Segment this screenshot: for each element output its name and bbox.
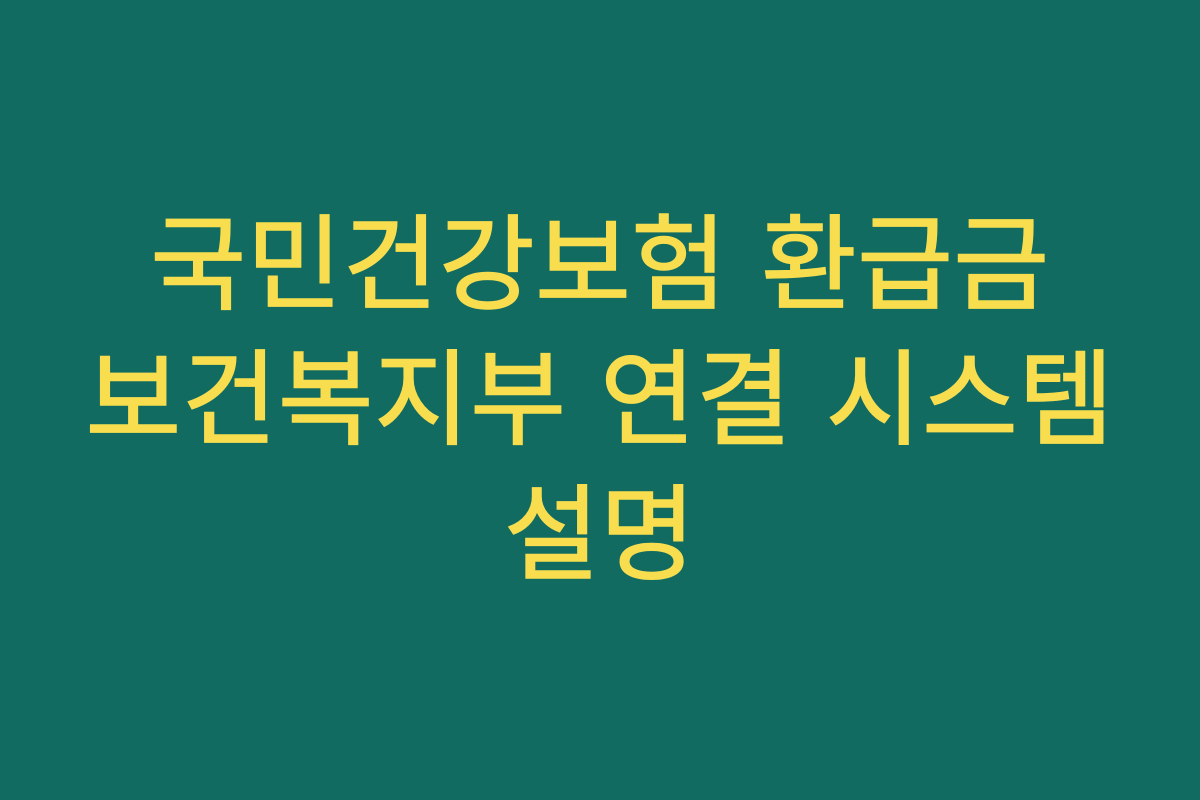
headline-block: 국민건강보험 환급금 보건복지부 연결 시스템 설명: [85, 198, 1115, 603]
banner-headline: 국민건강보험 환급금 보건복지부 연결 시스템 설명: [85, 198, 1115, 603]
banner-card: 국민건강보험 환급금 보건복지부 연결 시스템 설명: [0, 0, 1200, 800]
